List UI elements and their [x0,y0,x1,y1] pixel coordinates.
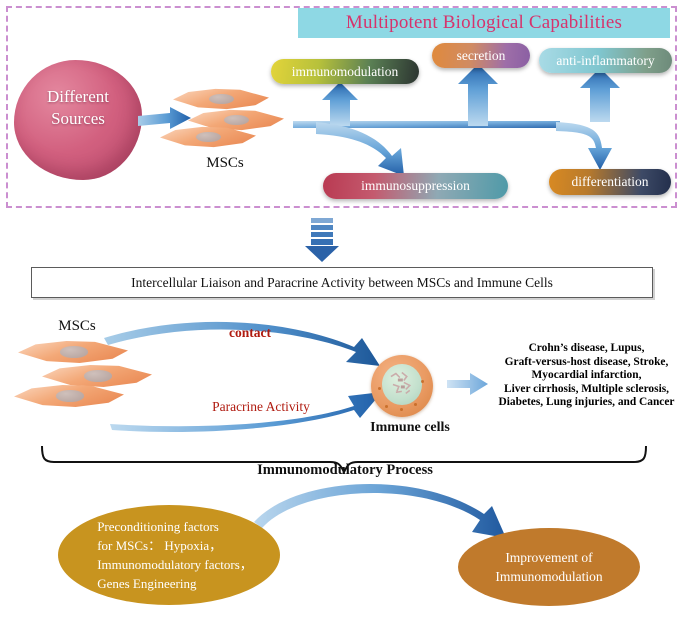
msc-cell [18,340,128,364]
segmented-down-arrow [305,218,339,262]
precond-line: for MSCs： Hypoxia， [97,536,253,555]
disease-list: Crohn’s disease, Lupus, Graft-versus-hos… [488,342,685,410]
capability-pill-anti-inflammatory[interactable]: anti-inflammatory [539,48,672,73]
capabilities-title-band: Multipotent Biological Capabilities [298,8,670,38]
preconditioning-factors-ellipse[interactable]: Preconditioning factors for MSCs： Hypoxi… [58,505,280,605]
contact-label: contact [205,325,295,341]
msc-cell [173,88,269,110]
immune-cell-graphic [371,355,433,417]
disease-line: Myocardial infarction, [488,369,685,383]
msc-label-top: MSCs [185,155,265,172]
immune-to-diseases-arrow [447,373,488,395]
immune-cell-nucleus [382,364,422,405]
different-sources-label: Different Sources [14,86,142,130]
pill-label: immunosuppression [361,178,470,194]
disease-line: Graft-versus-host disease, Stroke, [488,356,685,370]
sources-line-1: Different [14,86,142,108]
chromatin-icon [382,364,422,405]
pill-label: anti-inflammatory [556,53,654,69]
paracrine-activity-label: Paracrine Activity [196,399,326,415]
msc-cell [14,384,124,408]
msc-label-middle: MSCs [32,318,122,335]
different-sources-blob: Different Sources [14,60,142,180]
msc-nucleus [56,390,85,402]
disease-line: Diabetes, Lung injuries, and Cancer [488,396,685,410]
capability-pill-differentiation[interactable]: differentiation [549,169,671,195]
intercellular-liaison-text: Intercellular Liaison and Paracrine Acti… [32,268,652,297]
improvement-line: Improvement of [495,548,602,567]
pill-label: differentiation [572,174,649,190]
improvement-line: Immunomodulation [495,567,602,586]
improvement-outcome-ellipse[interactable]: Improvement of Immunomodulation [458,528,640,606]
immune-cells-label: Immune cells [355,420,465,436]
capability-pill-immunomodulation[interactable]: immunomodulation [271,59,419,84]
immunomodulatory-process-label: Immunomodulatory Process [230,462,460,479]
improvement-text: Improvement of Immunomodulation [495,548,602,586]
figure-canvas: Multipotent Biological Capabilities Diff… [0,0,685,620]
sources-line-2: Sources [14,108,142,130]
pill-label: secretion [457,48,506,64]
improvement-arrow [254,484,506,538]
capability-pill-secretion[interactable]: secretion [432,43,530,68]
msc-nucleus [60,346,89,358]
precond-line: Preconditioning factors [97,517,253,536]
precond-line: Genes Engineering [97,574,253,593]
pill-label: immunomodulation [292,64,399,80]
disease-line: Crohn’s disease, Lupus, [488,342,685,356]
disease-line: Liver cirrhosis, Multiple sclerosis, [488,383,685,397]
precond-line: Immunomodulatory factors， [97,555,253,574]
intercellular-liaison-box: Intercellular Liaison and Paracrine Acti… [31,267,653,298]
preconditioning-text: Preconditioning factors for MSCs： Hypoxi… [85,517,253,593]
capability-pill-immunosuppression[interactable]: immunosuppression [323,173,508,199]
msc-cell [160,126,256,148]
capabilities-title: Multipotent Biological Capabilities [298,8,670,38]
msc-nucleus [84,370,113,382]
